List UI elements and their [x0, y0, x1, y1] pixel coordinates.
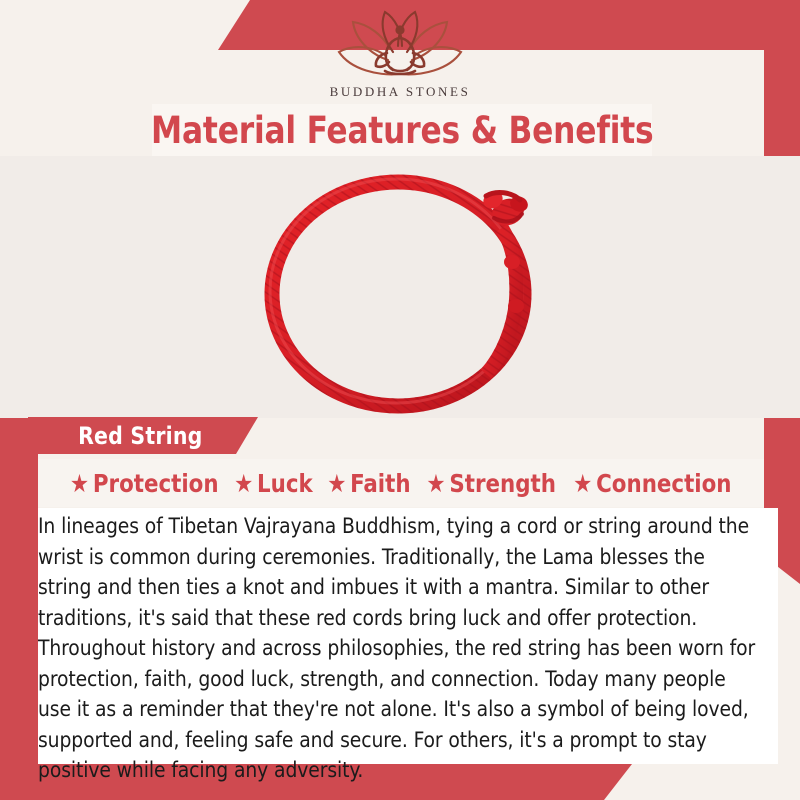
benefit-item-strength: ★Strength — [424, 469, 559, 498]
benefits-list: ★Protection ★Luck ★Faith ★Strength ★Conn… — [38, 459, 764, 507]
page-title: Material Features & Benefits — [151, 109, 653, 152]
benefit-label: Faith — [350, 469, 410, 498]
lotus-meditation-icon — [325, 8, 475, 82]
star-icon: ★ — [70, 471, 89, 496]
description-text: In lineages of Tibetan Vajrayana Buddhis… — [38, 512, 756, 787]
brand-name: BUDDHA STONES — [0, 84, 800, 100]
material-ribbon: Red String — [28, 417, 258, 454]
benefit-item-luck: ★Luck — [232, 469, 316, 498]
infographic-poster: BUDDHA STONES Material Features & Benefi… — [0, 0, 800, 800]
benefit-label: Luck — [257, 469, 313, 498]
benefit-item-faith: ★Faith — [325, 469, 414, 498]
star-icon: ★ — [327, 471, 346, 496]
description-block: In lineages of Tibetan Vajrayana Buddhis… — [38, 508, 778, 764]
product-image-area — [0, 156, 800, 418]
benefit-label: Protection — [93, 469, 219, 498]
red-braided-cord-bracelet-icon — [250, 166, 570, 416]
star-icon: ★ — [574, 471, 593, 496]
headline-plate: Material Features & Benefits — [152, 104, 652, 156]
star-icon: ★ — [235, 471, 254, 496]
benefit-item-connection: ★Connection — [571, 469, 735, 498]
benefit-label: Connection — [596, 469, 731, 498]
benefit-item-protection: ★Protection — [67, 469, 221, 498]
benefit-label: Strength — [449, 469, 556, 498]
material-name: Red String — [32, 422, 202, 450]
brand-block: BUDDHA STONES — [0, 8, 800, 100]
star-icon: ★ — [426, 471, 445, 496]
